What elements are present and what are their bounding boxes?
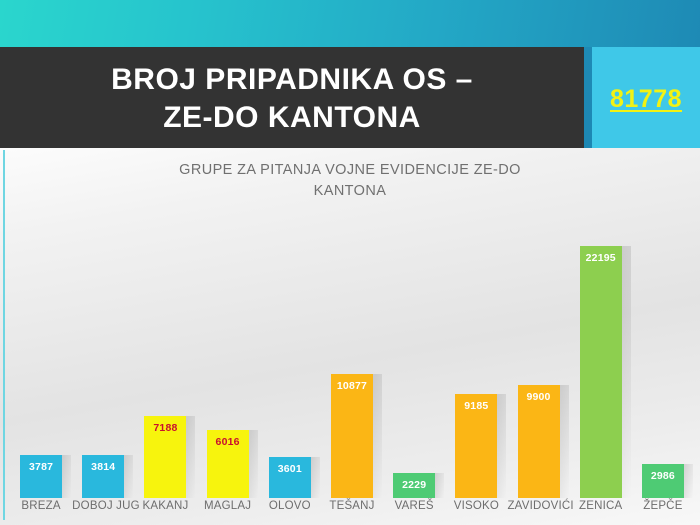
title-bar: BROJ PRIPADNIKA OS – ZE-DO KANTONA bbox=[0, 47, 584, 148]
chart-category-label: ŽEPČE bbox=[632, 500, 694, 512]
chart-category-label: VISOKO bbox=[445, 500, 507, 512]
chart-bar-value: 3814 bbox=[82, 461, 124, 473]
chart-bar-group: 7188 bbox=[144, 208, 186, 498]
chart-subtitle: GRUPE ZA PITANJA VOJNE EVIDENCIJE ZE-DO … bbox=[110, 160, 590, 202]
chart-category-label: VAREŠ bbox=[383, 500, 445, 512]
chart-bar-group: 3814 bbox=[82, 208, 124, 498]
chart-bar-group: 2986 bbox=[642, 208, 684, 498]
chart-bar[interactable]: 10877 bbox=[331, 374, 373, 498]
content-panel: GRUPE ZA PITANJA VOJNE EVIDENCIJE ZE-DO … bbox=[0, 148, 700, 525]
chart-bar-group: 22195 bbox=[580, 208, 622, 498]
chart-bar-group: 3601 bbox=[269, 208, 311, 498]
chart-bar[interactable]: 2229 bbox=[393, 473, 435, 498]
chart-bar-value: 6016 bbox=[207, 436, 249, 448]
chart-bar[interactable]: 9185 bbox=[455, 394, 497, 498]
chart-bar[interactable]: 6016 bbox=[207, 430, 249, 498]
title-bar-seam bbox=[584, 47, 592, 148]
chart-bar-group: 9900 bbox=[518, 208, 560, 498]
total-stat-block: 81778 bbox=[592, 47, 700, 148]
slide: BROJ PRIPADNIKA OS – ZE-DO KANTONA 81778… bbox=[0, 0, 700, 525]
chart-bar[interactable]: 2986 bbox=[642, 464, 684, 498]
chart-bar-group: 3787 bbox=[20, 208, 62, 498]
chart-bar-value: 9900 bbox=[518, 391, 560, 403]
page-title: BROJ PRIPADNIKA OS – ZE-DO KANTONA bbox=[0, 61, 584, 136]
chart-bar[interactable]: 3787 bbox=[20, 455, 62, 498]
chart-category-label: TEŠANJ bbox=[321, 500, 383, 512]
total-stat-value: 81778 bbox=[592, 85, 700, 114]
chart-bar-value: 2229 bbox=[393, 479, 435, 491]
chart-bar-group: 6016 bbox=[207, 208, 249, 498]
chart-bar-value: 3787 bbox=[20, 461, 62, 473]
chart-bar-value: 22195 bbox=[580, 252, 622, 264]
chart-bar[interactable]: 3601 bbox=[269, 457, 311, 498]
chart-category-label: DOBOJ JUG bbox=[72, 500, 134, 512]
chart-category-label: BREZA bbox=[10, 500, 72, 512]
left-accent-rule bbox=[3, 150, 5, 520]
chart-bar-value: 9185 bbox=[455, 400, 497, 412]
chart-bar-value: 2986 bbox=[642, 470, 684, 482]
chart-bar-value: 3601 bbox=[269, 463, 311, 475]
chart-category-label: MAGLAJ bbox=[197, 500, 259, 512]
chart-bar-group: 2229 bbox=[393, 208, 435, 498]
chart-plot-area: 3787381471886016360110877222991859900221… bbox=[10, 208, 694, 498]
chart-bar[interactable]: 22195 bbox=[580, 246, 622, 498]
top-gradient-band bbox=[0, 0, 700, 48]
chart-bar-group: 9185 bbox=[455, 208, 497, 498]
chart-bar-value: 10877 bbox=[331, 380, 373, 392]
chart-category-label: ZENICA bbox=[570, 500, 632, 512]
chart-bar-group: 10877 bbox=[331, 208, 373, 498]
chart-bar[interactable]: 7188 bbox=[144, 416, 186, 498]
chart-bar[interactable]: 3814 bbox=[82, 455, 124, 498]
chart-bar[interactable]: 9900 bbox=[518, 385, 560, 498]
chart-category-label: ZAVIDOVIĆI bbox=[507, 500, 569, 512]
chart-category-label: OLOVO bbox=[259, 500, 321, 512]
chart-bar-value: 7188 bbox=[144, 422, 186, 434]
chart-category-label: KAKANJ bbox=[134, 500, 196, 512]
bar-chart: 3787381471886016360110877222991859900221… bbox=[10, 208, 694, 525]
